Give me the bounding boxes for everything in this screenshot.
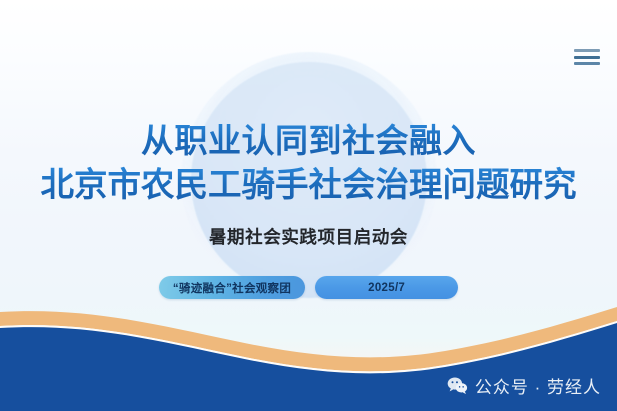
hamburger-menu-icon[interactable] xyxy=(574,47,600,67)
wechat-icon xyxy=(447,376,468,395)
hamburger-line-1 xyxy=(574,49,600,52)
page-title: 从职业认同到社会融入 北京市农民工骑手社会治理问题研究 xyxy=(0,122,617,205)
status-badge-date: 2025/7 xyxy=(315,276,458,299)
title-line-2: 北京市农民工骑手社会治理问题研究 xyxy=(0,166,617,206)
badge-row: “骑迹融合”社会观察团 2025/7 xyxy=(0,276,617,299)
status-badge-team: “骑迹融合”社会观察团 xyxy=(159,276,305,299)
watermark: 公众号 · 劳经人 xyxy=(447,373,601,398)
hamburger-line-3 xyxy=(574,62,600,65)
page-subtitle: 暑期社会实践项目启动会 xyxy=(0,224,617,249)
watermark-text: 公众号 · 劳经人 xyxy=(475,373,601,398)
title-line-1: 从职业认同到社会融入 xyxy=(0,122,617,161)
hamburger-line-2 xyxy=(574,56,600,59)
presentation-slide: 从职业认同到社会融入 北京市农民工骑手社会治理问题研究 暑期社会实践项目启动会 … xyxy=(0,0,617,411)
